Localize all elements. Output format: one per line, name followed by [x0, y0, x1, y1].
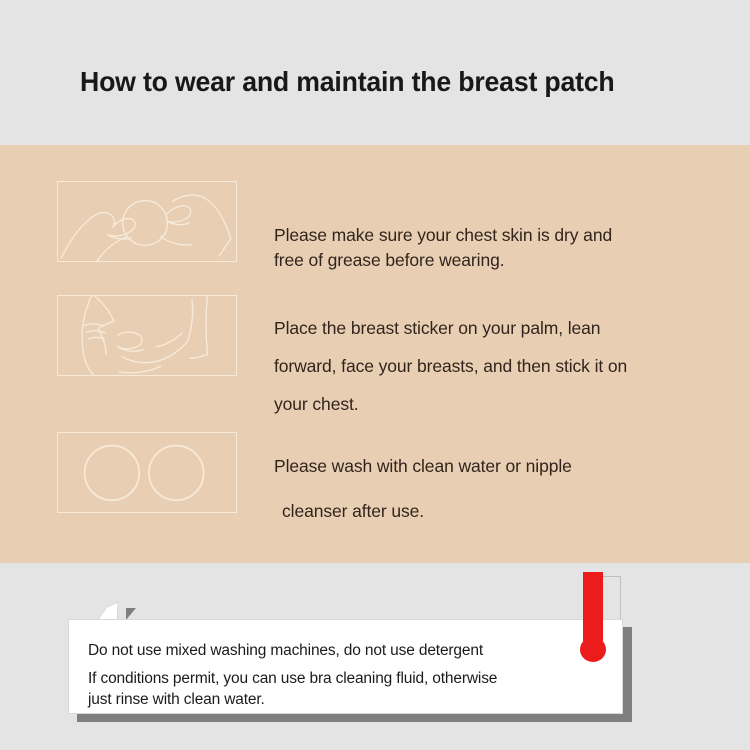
- step-text: Please make sure your chest skin is dry …: [274, 223, 694, 273]
- step-text-line: Please wash with clean water or nipple: [274, 444, 694, 489]
- hand-applying-patch-to-chest-illustration: [57, 295, 237, 376]
- exclamation-bar-icon: [583, 572, 603, 641]
- step-text-line: your chest.: [274, 385, 724, 423]
- two-round-patches-illustration: [57, 432, 237, 513]
- callout-line: If conditions permit, you can use bra cl…: [88, 670, 497, 688]
- infographic-page: How to wear and maintain the breast patc…: [0, 0, 750, 750]
- header-band: How to wear and maintain the breast patc…: [0, 0, 750, 145]
- step-text-line: Please make sure your chest skin is dry …: [274, 223, 694, 248]
- callout-line: just rinse with clean water.: [88, 691, 265, 709]
- page-title: How to wear and maintain the breast patc…: [80, 66, 615, 98]
- step-text-line: forward, face your breasts, and then sti…: [274, 347, 724, 385]
- warning-callout-box: Do not use mixed washing machines, do no…: [68, 619, 623, 714]
- step-text-line: Place the breast sticker on your palm, l…: [274, 309, 724, 347]
- step-text: Place the breast sticker on your palm, l…: [274, 309, 724, 423]
- two-hands-holding-patch-illustration: [57, 181, 237, 262]
- steps-panel: Please make sure your chest skin is dry …: [0, 145, 750, 563]
- exclamation-dot-icon: [580, 637, 606, 662]
- callout-line: Do not use mixed washing machines, do no…: [88, 642, 483, 660]
- step-text: Please wash with clean water or nipple c…: [274, 444, 694, 534]
- step-text-line: free of grease before wearing.: [274, 248, 694, 273]
- step-text-line: cleanser after use.: [274, 489, 694, 534]
